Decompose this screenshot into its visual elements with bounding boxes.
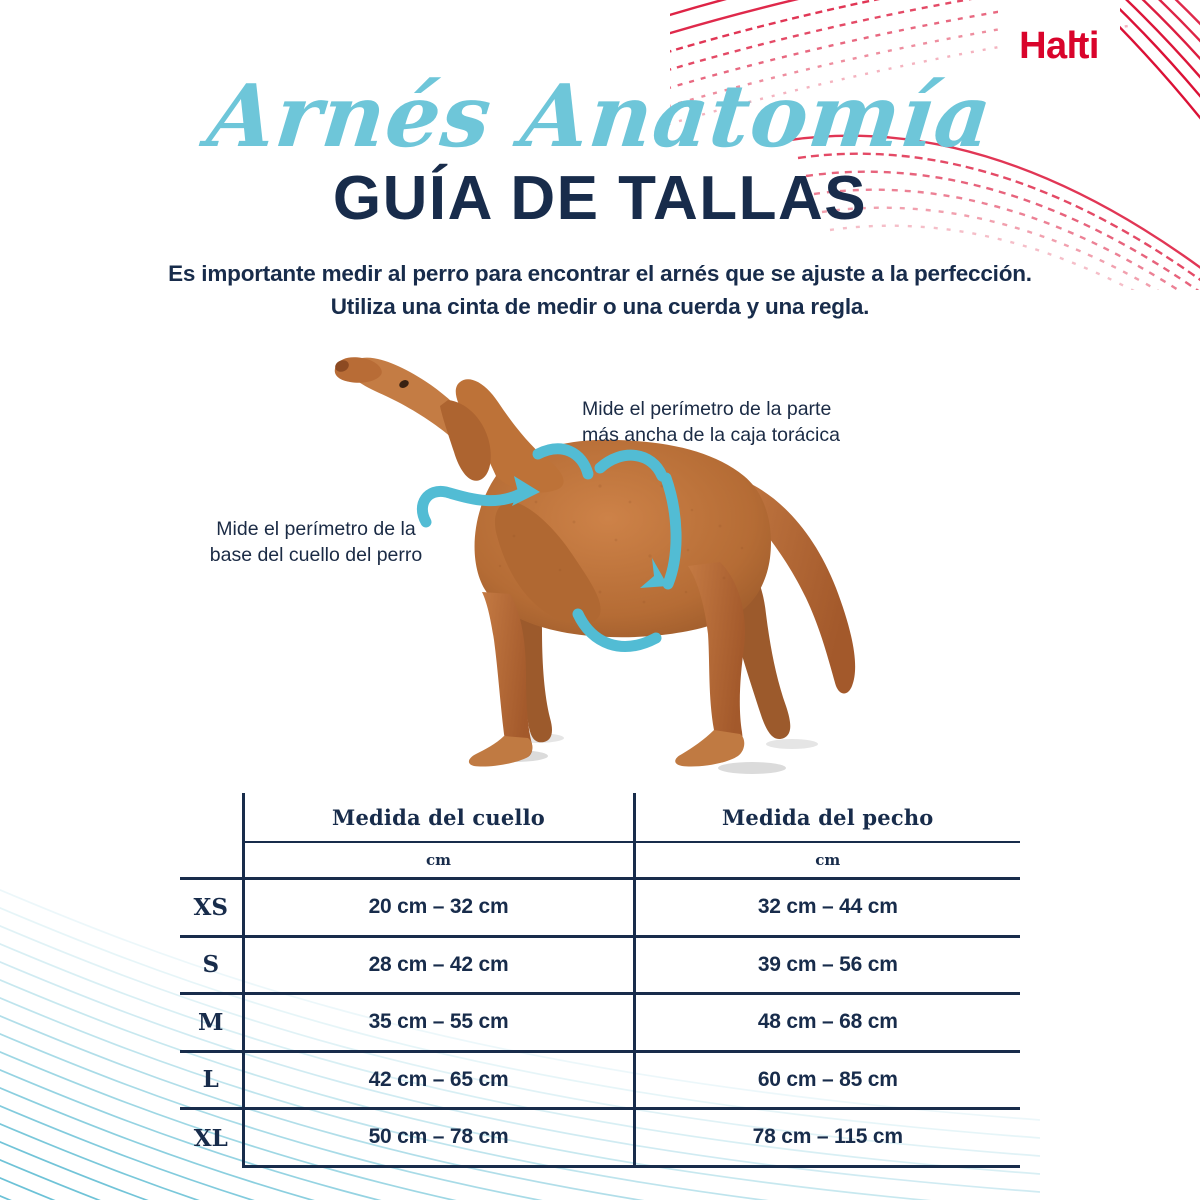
page-title: GUÍA DE TALLAS bbox=[0, 168, 1200, 230]
bottom-rule-size bbox=[180, 1166, 243, 1168]
table-row: M 35 cm – 55 cm 48 cm – 68 cm bbox=[180, 994, 1020, 1052]
annotation-chest-line-1: Mide el perímetro de la parte bbox=[582, 396, 912, 422]
table-header-unit-row: cm cm bbox=[180, 842, 1020, 879]
subtitle-line-2: Utiliza una cinta de medir o una cuerda … bbox=[0, 291, 1200, 324]
row-size-label: L bbox=[180, 1051, 243, 1109]
chest-loop-bottom bbox=[578, 614, 656, 646]
table-row: S 28 cm – 42 cm 39 cm – 56 cm bbox=[180, 936, 1020, 994]
header-neck-unit: cm bbox=[243, 842, 634, 879]
chest-loop-top bbox=[600, 455, 662, 476]
row-neck-value: 35 cm – 55 cm bbox=[243, 994, 634, 1052]
row-size-label: XL bbox=[180, 1109, 243, 1167]
bottom-rule-neck bbox=[243, 1166, 634, 1168]
infographic-canvas: Halti Arnés Anatomía GUÍA DE TALLAS Es i… bbox=[0, 0, 1200, 1200]
table-row: XS 20 cm – 32 cm 32 cm – 44 cm bbox=[180, 879, 1020, 937]
header-size-unit bbox=[180, 842, 243, 879]
subtitle-line-1: Es importante medir al perro para encont… bbox=[0, 258, 1200, 291]
bottom-rule-chest bbox=[634, 1166, 1020, 1168]
row-neck-value: 20 cm – 32 cm bbox=[243, 879, 634, 937]
annotation-chest: Mide el perímetro de la parte más ancha … bbox=[582, 396, 912, 449]
header-neck-group: Medida del cuello bbox=[243, 793, 634, 842]
row-size-label: M bbox=[180, 994, 243, 1052]
annotation-neck-line-2: base del cuello del perro bbox=[180, 542, 452, 568]
neck-loop-back bbox=[538, 449, 588, 474]
row-chest-value: 32 cm – 44 cm bbox=[634, 879, 1020, 937]
header-chest-group: Medida del pecho bbox=[634, 793, 1020, 842]
chest-loop-right bbox=[666, 478, 676, 584]
page-subtitle: Es importante medir al perro para encont… bbox=[0, 258, 1200, 323]
annotation-chest-line-2: más ancha de la caja torácica bbox=[582, 422, 912, 448]
halti-logo: Halti bbox=[998, 0, 1120, 92]
row-chest-value: 39 cm – 56 cm bbox=[634, 936, 1020, 994]
row-size-label: S bbox=[180, 936, 243, 994]
table-bottom-rule-row bbox=[180, 1166, 1020, 1168]
halti-logo-text: Halti bbox=[1019, 27, 1099, 65]
header-chest-unit: cm bbox=[634, 842, 1020, 879]
annotation-neck: Mide el perímetro de la base del cuello … bbox=[180, 516, 452, 569]
row-chest-value: 78 cm – 115 cm bbox=[634, 1109, 1020, 1167]
row-neck-value: 50 cm – 78 cm bbox=[243, 1109, 634, 1167]
table-row: L 42 cm – 65 cm 60 cm – 85 cm bbox=[180, 1051, 1020, 1109]
row-neck-value: 28 cm – 42 cm bbox=[243, 936, 634, 994]
row-neck-value: 42 cm – 65 cm bbox=[243, 1051, 634, 1109]
annotation-neck-line-1: Mide el perímetro de la bbox=[180, 516, 452, 542]
table-row: XL 50 cm – 78 cm 78 cm – 115 cm bbox=[180, 1109, 1020, 1167]
row-chest-value: 60 cm – 85 cm bbox=[634, 1051, 1020, 1109]
row-size-label: XS bbox=[180, 879, 243, 937]
row-chest-value: 48 cm – 68 cm bbox=[634, 994, 1020, 1052]
table-header-group-row: Medida del cuello Medida del pecho bbox=[180, 793, 1020, 842]
chest-loop-arrowhead bbox=[640, 558, 668, 588]
header-size-group bbox=[180, 793, 243, 842]
size-table: Medida del cuello Medida del pecho cm cm… bbox=[180, 793, 1020, 1168]
